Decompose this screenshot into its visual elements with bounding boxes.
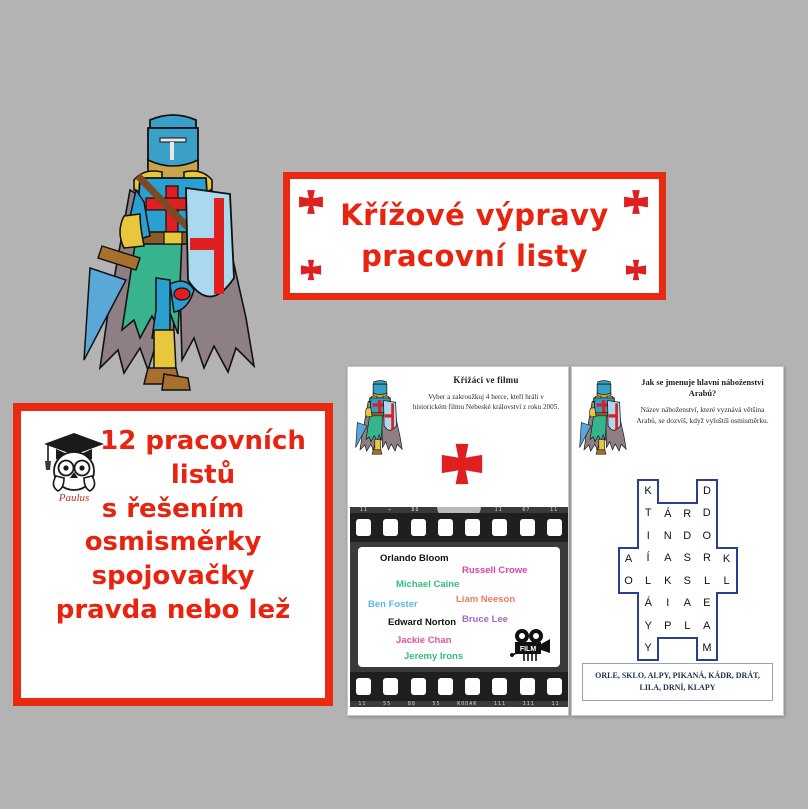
strip-mark: 111 [494, 701, 506, 707]
actor-name[interactable]: Edward Norton [388, 617, 456, 628]
actor-name-panel: Orlando Bloom Russell Crowe Michael Cain… [358, 547, 560, 667]
crossword-grid[interactable]: KDTÁRDINDOAÍASRKOLKSLLÁIAEYPLAYM [618, 479, 738, 661]
crossword-row: YM [619, 638, 737, 661]
film-card-title: Křižáci ve filmu [412, 375, 560, 385]
owl-graduate-icon: Paulus [38, 428, 110, 504]
strip-mark: 11 [358, 701, 366, 707]
crossword-cell-empty [658, 480, 678, 503]
actor-name[interactable]: Jackie Chan [396, 635, 451, 646]
film-card-instructions: Vyber a zakroužkuj 4 herce, kteří hráli … [412, 392, 560, 413]
crossword-cell-empty [619, 480, 639, 503]
crossword-cell[interactable]: K [658, 570, 678, 593]
strip-mark: 55 [383, 701, 391, 707]
crusader-knight-illustration [78, 98, 268, 398]
crossword-row: ÁIAE [619, 593, 737, 616]
crossword-cell[interactable]: T [638, 503, 658, 526]
worksheet-summary-box: Paulus 12 pracovních listů s řešením osm… [13, 403, 333, 706]
crossword-cell[interactable]: A [697, 615, 717, 638]
actor-name[interactable]: Orlando Bloom [380, 553, 449, 564]
crusader-knight-icon [354, 375, 406, 459]
strip-mark: 11 [552, 701, 560, 707]
crossword-cell-empty [678, 480, 698, 503]
film-sprocket-row-top [350, 513, 568, 542]
maltese-cross-icon [300, 259, 322, 281]
crossword-cell[interactable]: Y [638, 638, 658, 661]
sprocket-hole [547, 678, 562, 695]
worksheet-card-film[interactable]: Křižáci ve filmu Vyber a zakroužkuj 4 he… [347, 366, 569, 716]
crossword-row: INDO [619, 525, 737, 548]
summary-line-4: osmisměrky [31, 526, 315, 560]
sprocket-hole [465, 519, 480, 536]
wordlist-line-2: LILA, DRNÍ, KLAPY [639, 683, 715, 692]
sprocket-hole [356, 678, 371, 695]
sprocket-hole [492, 678, 507, 695]
actor-name[interactable]: Ben Foster [368, 599, 418, 610]
crossword-cell[interactable]: E [697, 593, 717, 616]
crossword-cell[interactable]: Y [638, 615, 658, 638]
crossword-cell[interactable]: D [678, 525, 698, 548]
crossword-wordlist: ORLE, SKLO, ALPY, PIKANÁ, KÁDR, DRÁT, LI… [582, 663, 773, 701]
maltese-cross-icon [623, 189, 649, 215]
sprocket-hole [492, 519, 507, 536]
actor-name[interactable]: Michael Caine [396, 579, 459, 590]
crossword-cell[interactable]: D [697, 503, 717, 526]
sprocket-hole [411, 678, 426, 695]
film-strip-marks-bottom: 11 55 88 55 KODAK 111 111 11 [350, 701, 568, 707]
owl-logo-label: Paulus [58, 492, 90, 504]
banner-line-1: Křížové výpravy [340, 198, 608, 232]
crusader-knight-icon [578, 375, 630, 459]
crossword-row: OLKSLL [619, 570, 737, 593]
crossword-cell-empty [619, 593, 639, 616]
title-banner: Křížové výpravy pracovní listy [283, 172, 666, 300]
crossword-cell[interactable]: R [678, 503, 698, 526]
crossword-cell[interactable]: O [697, 525, 717, 548]
maltese-cross-icon [298, 189, 324, 215]
crossword-row: AÍASRK [619, 548, 737, 571]
actor-name[interactable]: Jeremy Irons [404, 651, 463, 662]
sprocket-hole [411, 519, 426, 536]
poster-canvas: Křížové výpravy pracovní listy [0, 0, 808, 809]
crossword-cell[interactable]: Á [658, 503, 678, 526]
wordlist-line-1: ORLE, SKLO, ALPY, PIKANÁ, KÁDR, DRÁT, [595, 671, 760, 680]
crossword-cell-empty [717, 638, 737, 661]
crossword-cell[interactable]: P [658, 615, 678, 638]
crossword-cell[interactable]: A [619, 548, 639, 571]
crossword-cell[interactable]: Á [638, 593, 658, 616]
crossword-cell[interactable]: D [697, 480, 717, 503]
crossword-cell[interactable]: M [697, 638, 717, 661]
crossword-cell[interactable]: R [697, 548, 717, 571]
film-strip: 11 → 88 11 11 11 67 11 Orla [350, 507, 568, 707]
crossword-cell-empty [619, 615, 639, 638]
actor-name[interactable]: Bruce Lee [462, 614, 508, 625]
crossword-cell-empty [619, 503, 639, 526]
actor-name[interactable]: Liam Neeson [456, 594, 515, 605]
crossword-card-title: Jak se jmenuje hlavní náboženství Arabů? [630, 377, 775, 400]
crossword-cell-empty [619, 638, 639, 661]
crossword-cell[interactable]: O [619, 570, 639, 593]
crossword-row: YPLA [619, 615, 737, 638]
crossword-cell-empty [717, 615, 737, 638]
sprocket-hole [438, 678, 453, 695]
crossword-cell-empty [717, 593, 737, 616]
sprocket-hole [356, 519, 371, 536]
film-sprocket-row-bottom [350, 672, 568, 701]
banner-text-block: Křížové výpravy pracovní listy [306, 195, 642, 277]
worksheet-summary-inner: Paulus 12 pracovních listů s řešením osm… [21, 411, 325, 698]
crossword-cell[interactable]: S [678, 570, 698, 593]
crossword-cell-empty [717, 503, 737, 526]
title-banner-inner: Křížové výpravy pracovní listy [290, 179, 659, 293]
crossword-cell-empty [717, 525, 737, 548]
crossword-row: KD [619, 480, 737, 503]
crossword-cell-empty [678, 638, 698, 661]
crossword-cell[interactable]: K [717, 548, 737, 571]
strip-mark: 111 [523, 701, 535, 707]
crossword-cell[interactable]: I [658, 593, 678, 616]
crossword-cell[interactable]: L [678, 615, 698, 638]
sprocket-hole [383, 678, 398, 695]
strip-mark: 88 [408, 701, 416, 707]
worksheet-card-crossword[interactable]: Jak se jmenuje hlavní náboženství Arabů?… [571, 366, 784, 716]
crossword-cell[interactable]: A [678, 593, 698, 616]
crossword-card-instructions: Název náboženství, které vyznává většina… [630, 404, 775, 426]
summary-line-6: pravda nebo lež [31, 594, 315, 628]
crossword-grid-wrapper: KDTÁRDINDOAÍASRKOLKSLLÁIAEYPLAYM [572, 479, 783, 661]
crossword-row: TÁRD [619, 503, 737, 526]
sprocket-hole [465, 678, 480, 695]
maltese-cross-icon [625, 259, 647, 281]
crossword-cell-empty [717, 480, 737, 503]
strip-mark: 55 [433, 701, 441, 707]
crossword-cell-empty [658, 638, 678, 661]
crossword-cell[interactable]: N [658, 525, 678, 548]
maltese-cross-icon [440, 441, 484, 487]
crossword-cell[interactable]: S [678, 548, 698, 571]
sprocket-hole [438, 519, 453, 536]
summary-line-5: spojovačky [31, 560, 315, 594]
sprocket-hole [520, 519, 535, 536]
actor-name[interactable]: Russell Crowe [462, 565, 527, 576]
banner-line-2: pracovní listy [340, 236, 608, 277]
crossword-cell[interactable]: A [658, 548, 678, 571]
strip-mark: KODAK [457, 701, 477, 707]
sprocket-hole [547, 519, 562, 536]
camera-label: FILM [520, 646, 536, 653]
sprocket-hole [383, 519, 398, 536]
crossword-cell[interactable]: I [638, 525, 658, 548]
crossword-cell[interactable]: Í [638, 548, 658, 571]
crossword-cell-empty [619, 525, 639, 548]
crossword-cell[interactable]: K [638, 480, 658, 503]
sprocket-hole [520, 678, 535, 695]
crossword-cell[interactable]: L [717, 570, 737, 593]
film-camera-icon: FILM [510, 628, 552, 662]
crossword-cell[interactable]: L [638, 570, 658, 593]
crossword-cell[interactable]: L [697, 570, 717, 593]
